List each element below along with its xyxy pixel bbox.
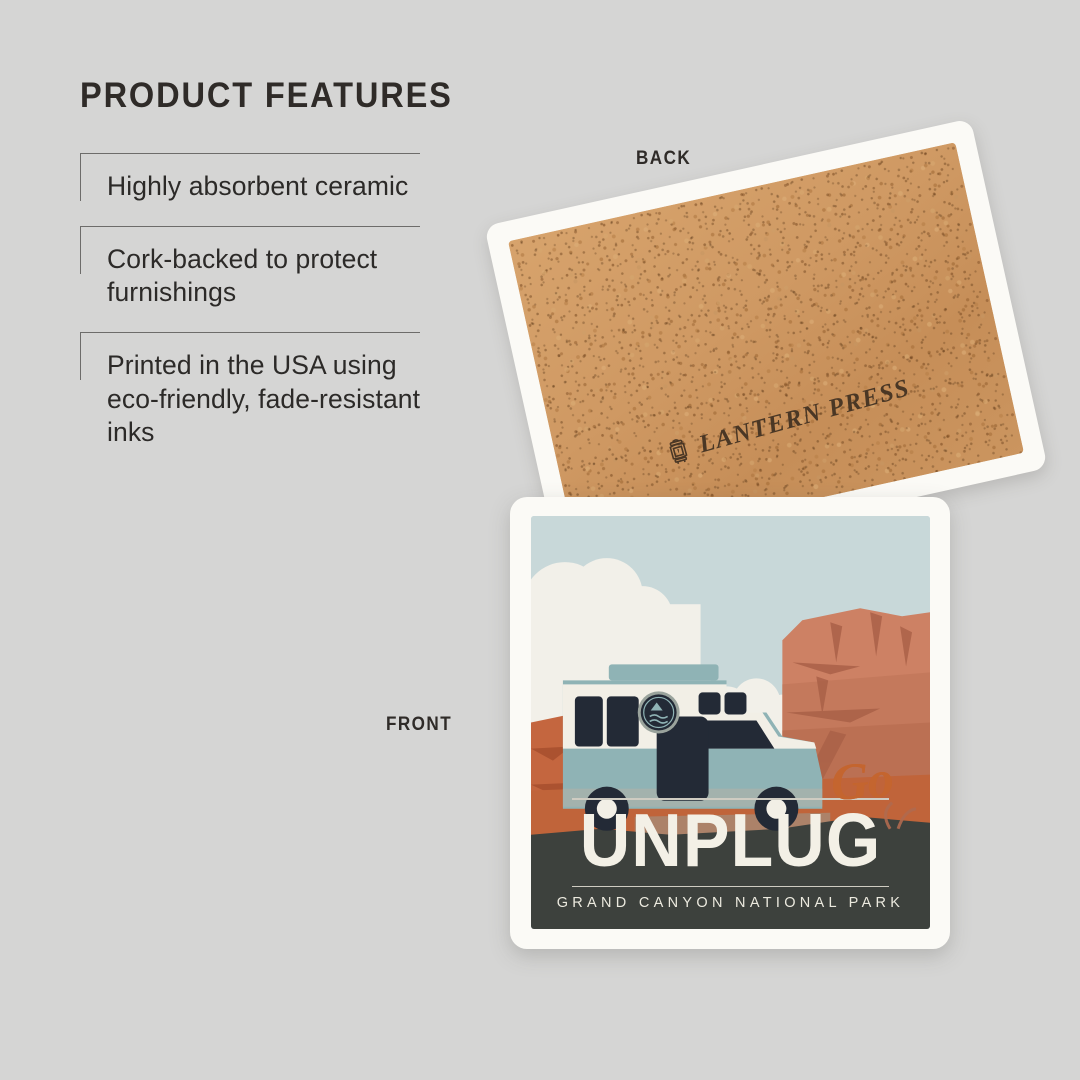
product-feature-page: PRODUCT FEATURES Highly absorbent cerami… (0, 0, 1080, 1080)
feature-divider-tick (80, 226, 81, 274)
feature-text: Highly absorbent ceramic (107, 153, 440, 204)
feature-text: Printed in the USA using eco-friendly, f… (107, 332, 440, 450)
feature-divider-tick (80, 332, 81, 380)
product-features-panel: PRODUCT FEATURES Highly absorbent cerami… (80, 78, 440, 450)
coaster-front: Go UNPLUG GRAND CANYON NATIONAL PARK (510, 497, 950, 949)
lantern-icon (662, 434, 695, 470)
feature-item-absorbent: Highly absorbent ceramic (80, 153, 440, 204)
coaster-artwork: Go UNPLUG GRAND CANYON NATIONAL PARK (531, 516, 930, 929)
feature-divider (80, 332, 420, 333)
lantern-press-brand: LANTERN PRESS (662, 373, 913, 469)
label-back: BACK (636, 148, 691, 170)
page-title: PRODUCT FEATURES (80, 78, 415, 113)
foreground-band (531, 817, 930, 929)
feature-list: Highly absorbent ceramic Cork-backed to … (80, 153, 440, 450)
brand-name: LANTERN PRESS (696, 374, 913, 459)
label-front: FRONT (386, 714, 452, 736)
feature-text: Cork-backed to protect furnishings (107, 226, 440, 310)
mountain-wave-emblem (638, 691, 680, 733)
feature-divider (80, 153, 420, 154)
feature-item-printed-usa: Printed in the USA using eco-friendly, f… (80, 332, 440, 450)
feature-item-cork-backed: Cork-backed to protect furnishings (80, 226, 440, 310)
feature-divider-tick (80, 153, 81, 201)
feature-divider (80, 226, 420, 227)
artwork-illustration (531, 516, 930, 929)
cork-surface: LANTERN PRESS (508, 142, 1024, 552)
